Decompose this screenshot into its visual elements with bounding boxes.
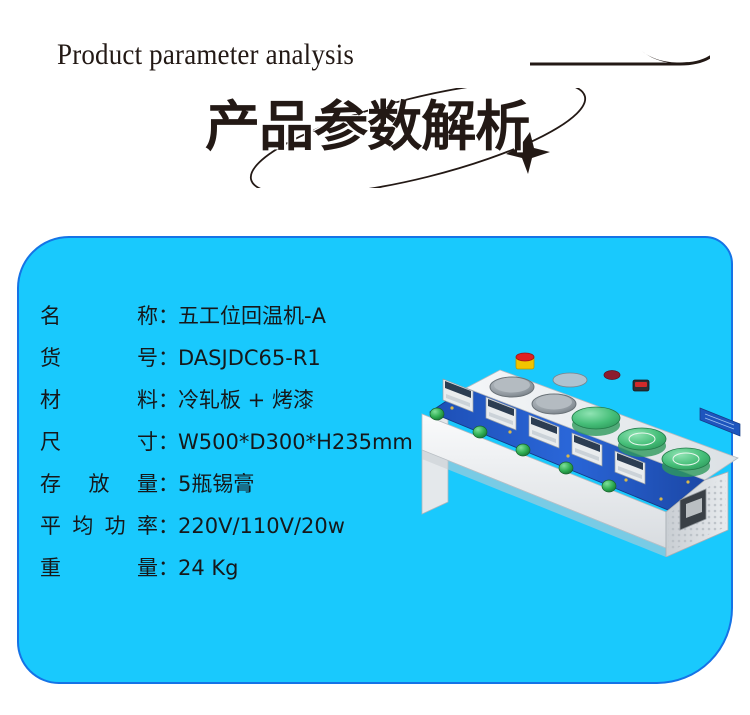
- page-header: Product parameter analysis 产品参数解析: [0, 0, 750, 215]
- spec-label: 重量: [40, 552, 158, 582]
- spec-colon: ：: [158, 510, 178, 540]
- clear-lid-icon: [553, 373, 587, 387]
- spec-list: 名称 ： 五工位回温机-A 货号 ： DASJDC65-R1 材料 ： 冷轧板 …: [40, 300, 470, 594]
- spec-row-weight: 重量 ： 24 Kg: [40, 552, 470, 594]
- spec-value: 5瓶锡膏: [178, 468, 254, 498]
- chinese-title: 产品参数解析: [205, 96, 529, 158]
- spec-label: 材料: [40, 384, 158, 414]
- spec-value: 220V/110V/20w: [178, 514, 345, 538]
- spec-label: 名称: [40, 300, 158, 330]
- spec-value: 冷轧板 + 烤漆: [178, 384, 314, 414]
- spec-value: DASJDC65-R1: [178, 346, 321, 370]
- english-title: Product parameter analysis: [57, 38, 354, 72]
- swoosh-rule-icon: [530, 44, 710, 76]
- green-lid-icon: [618, 428, 666, 450]
- spec-label: 平均功率: [40, 510, 158, 540]
- spec-label: 存放量: [40, 468, 158, 498]
- spec-row-power: 平均功率 ： 220V/110V/20w: [40, 510, 470, 552]
- spec-value: 24 Kg: [178, 556, 239, 580]
- spec-label: 尺寸: [40, 426, 158, 456]
- spec-colon: ：: [158, 300, 178, 330]
- indicator-lamp-icon: [604, 371, 620, 380]
- spec-colon: ：: [158, 342, 178, 372]
- spec-value: 五工位回温机-A: [178, 300, 326, 330]
- product-photo-warmer-machine: [418, 352, 750, 557]
- spec-row-material: 材料 ： 冷轧板 + 烤漆: [40, 384, 470, 426]
- spec-plate-icon: [700, 408, 740, 436]
- spec-label: 货号: [40, 342, 158, 372]
- spec-colon: ：: [158, 468, 178, 498]
- spec-row-dimensions: 尺寸 ： W500*D300*H235mm: [40, 426, 470, 468]
- green-lid-icon: [662, 448, 710, 470]
- spec-value: W500*D300*H235mm: [178, 430, 413, 454]
- spec-row-capacity: 存放量 ： 5瓶锡膏: [40, 468, 470, 510]
- spec-colon: ：: [158, 384, 178, 414]
- green-button-icon: [516, 444, 530, 456]
- green-button-icon: [430, 408, 444, 420]
- green-lid-icon: [572, 407, 620, 429]
- green-button-icon: [602, 480, 616, 492]
- spec-row-model: 货号 ： DASJDC65-R1: [40, 342, 470, 384]
- spec-row-name: 名称 ： 五工位回温机-A: [40, 300, 470, 342]
- green-button-icon: [559, 462, 573, 474]
- emergency-stop-button: [516, 353, 534, 361]
- green-button-icon: [473, 426, 487, 438]
- spec-colon: ：: [158, 426, 178, 456]
- chinese-title-group: 产品参数解析: [205, 96, 605, 176]
- spec-colon: ：: [158, 552, 178, 582]
